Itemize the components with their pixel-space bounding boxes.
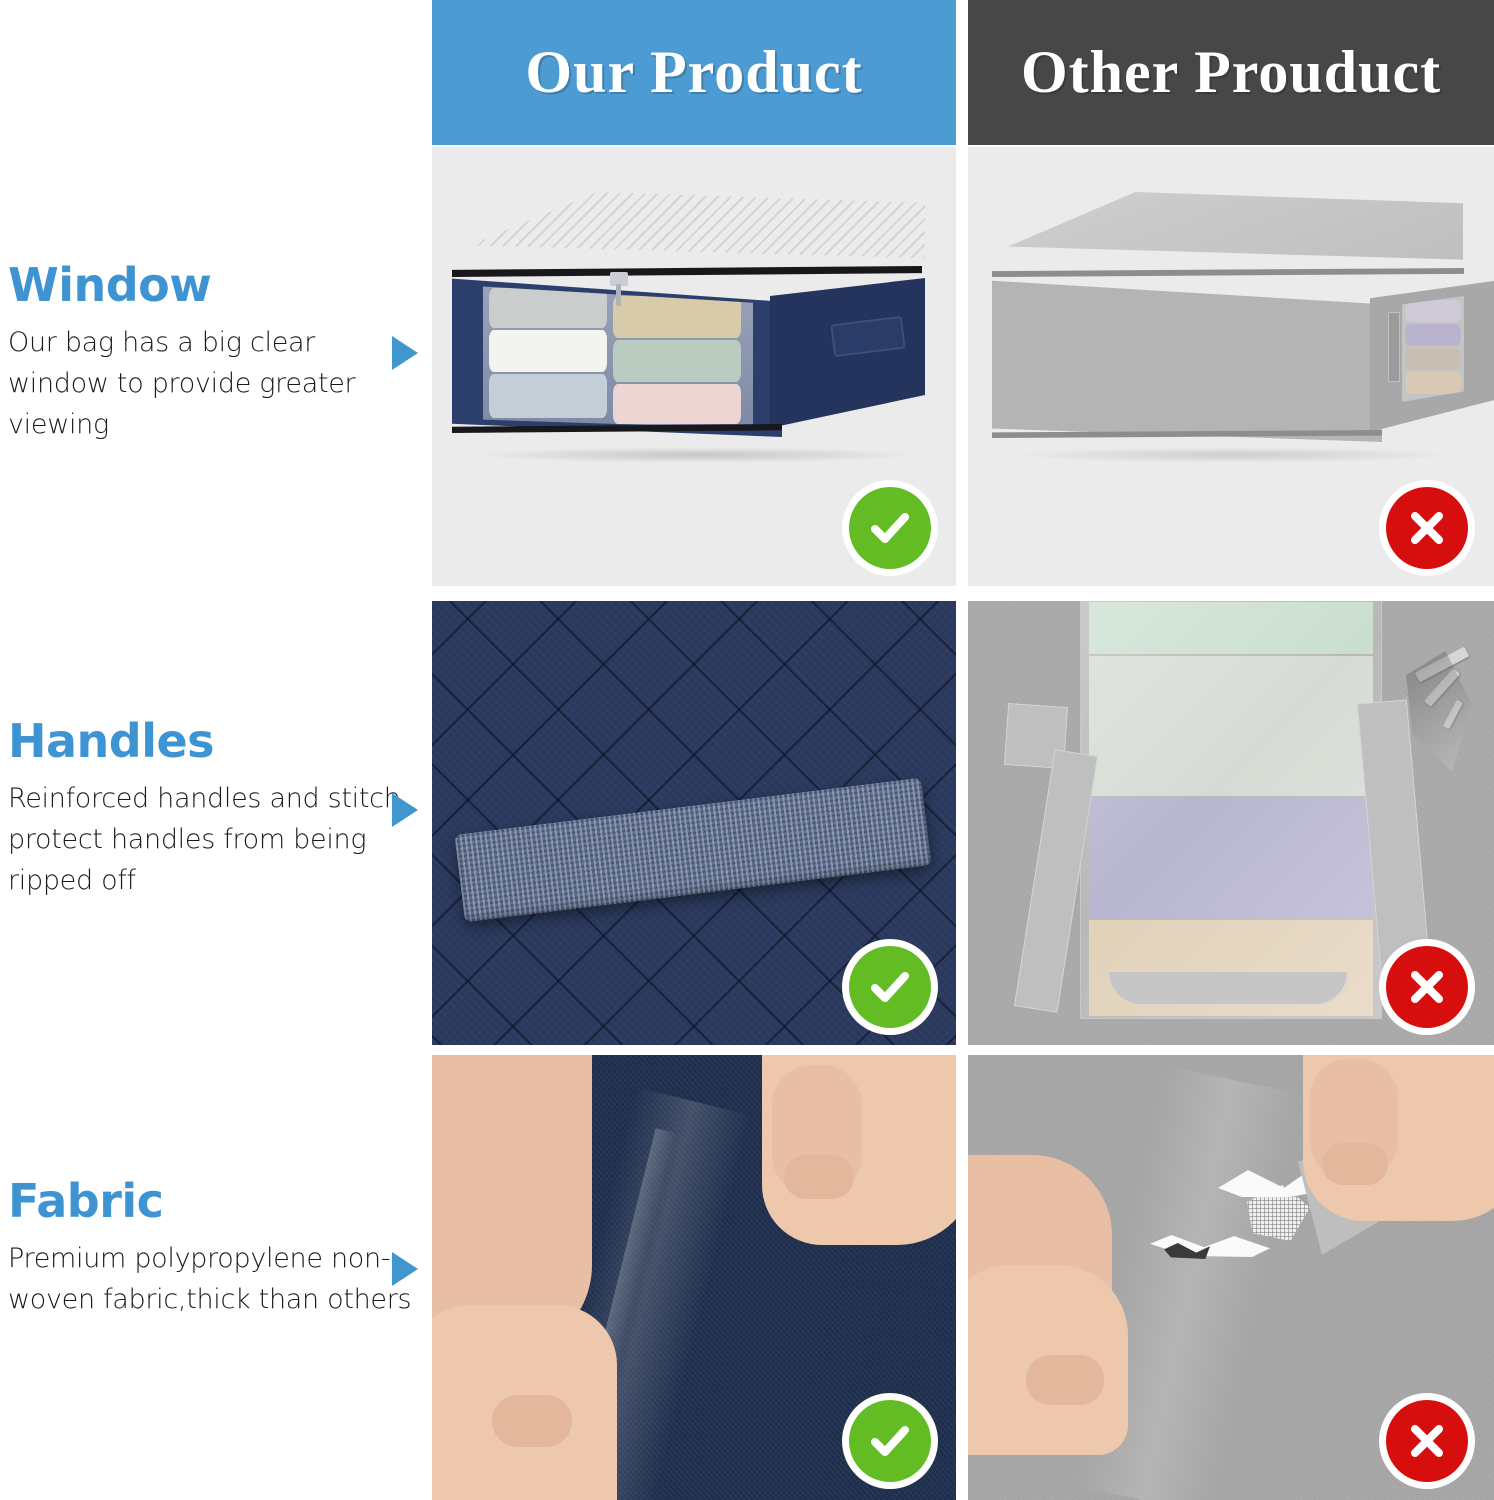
photo-our-product-handles xyxy=(432,601,956,1045)
feature-block-fabric: Fabric Premium polypropylene non-woven f… xyxy=(8,1178,428,1320)
triangle-right-icon xyxy=(392,1252,418,1286)
photo-our-product-fabric xyxy=(432,1055,956,1500)
photo-other-product-handles xyxy=(968,601,1494,1045)
feature-text-column: Window Our bag has a big clear window to… xyxy=(0,0,432,1500)
triangle-right-icon xyxy=(392,336,418,370)
feature-title-handles: Handles xyxy=(8,718,428,764)
photo-our-product-window xyxy=(432,147,956,586)
check-icon xyxy=(849,487,931,569)
cross-icon xyxy=(1386,1400,1468,1482)
triangle-right-icon xyxy=(392,793,418,827)
header-our-product-label: Our Product xyxy=(525,38,862,107)
feature-body-window: Our bag has a big clear window to provid… xyxy=(8,322,420,445)
check-icon xyxy=(849,946,931,1028)
feature-block-handles: Handles Reinforced handles and stitch pr… xyxy=(8,718,428,901)
feature-title-fabric: Fabric xyxy=(8,1178,428,1224)
feature-title-window: Window xyxy=(8,262,428,308)
header-our-product: Our Product xyxy=(432,0,956,145)
cross-icon xyxy=(1386,946,1468,1028)
feature-body-handles: Reinforced handles and stitch protect ha… xyxy=(8,778,420,901)
header-other-product-label: Other Prouduct xyxy=(1021,38,1441,107)
photo-other-product-window xyxy=(968,147,1494,586)
cross-icon xyxy=(1386,487,1468,569)
product-comparison-infographic: Our Product Other Prouduct Window Our ba… xyxy=(0,0,1494,1500)
feature-block-window: Window Our bag has a big clear window to… xyxy=(8,262,428,445)
header-other-product: Other Prouduct xyxy=(968,0,1494,145)
check-icon xyxy=(849,1400,931,1482)
photo-other-product-fabric xyxy=(968,1055,1494,1500)
feature-body-fabric: Premium polypropylene non-woven fabric,t… xyxy=(8,1238,420,1320)
